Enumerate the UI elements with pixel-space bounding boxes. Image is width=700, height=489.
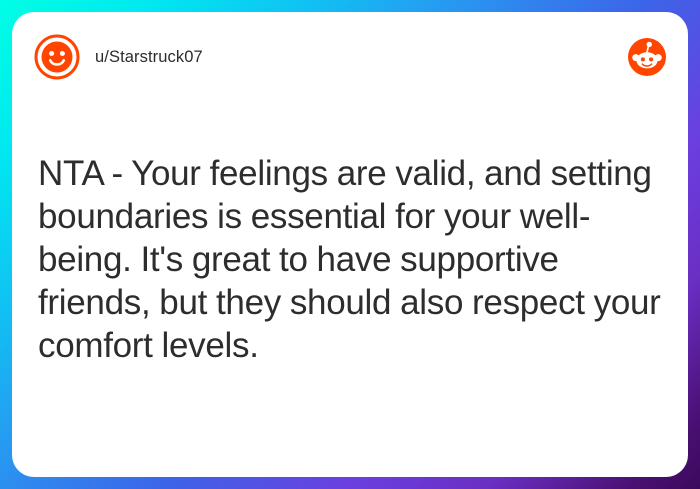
card-body: NTA - Your feelings are valid, and setti… — [12, 152, 688, 367]
comment-text: NTA - Your feelings are valid, and setti… — [38, 152, 666, 367]
gradient-backdrop: u/Starstruck07 NTA - Your feelings are v… — [0, 0, 700, 489]
reddit-snoo-logo-icon — [628, 38, 666, 76]
smiley-face-avatar-icon — [34, 34, 80, 80]
reddit-comment-card: u/Starstruck07 NTA - Your feelings are v… — [12, 12, 688, 477]
card-header: u/Starstruck07 — [12, 12, 688, 102]
username-label: u/Starstruck07 — [95, 49, 203, 66]
